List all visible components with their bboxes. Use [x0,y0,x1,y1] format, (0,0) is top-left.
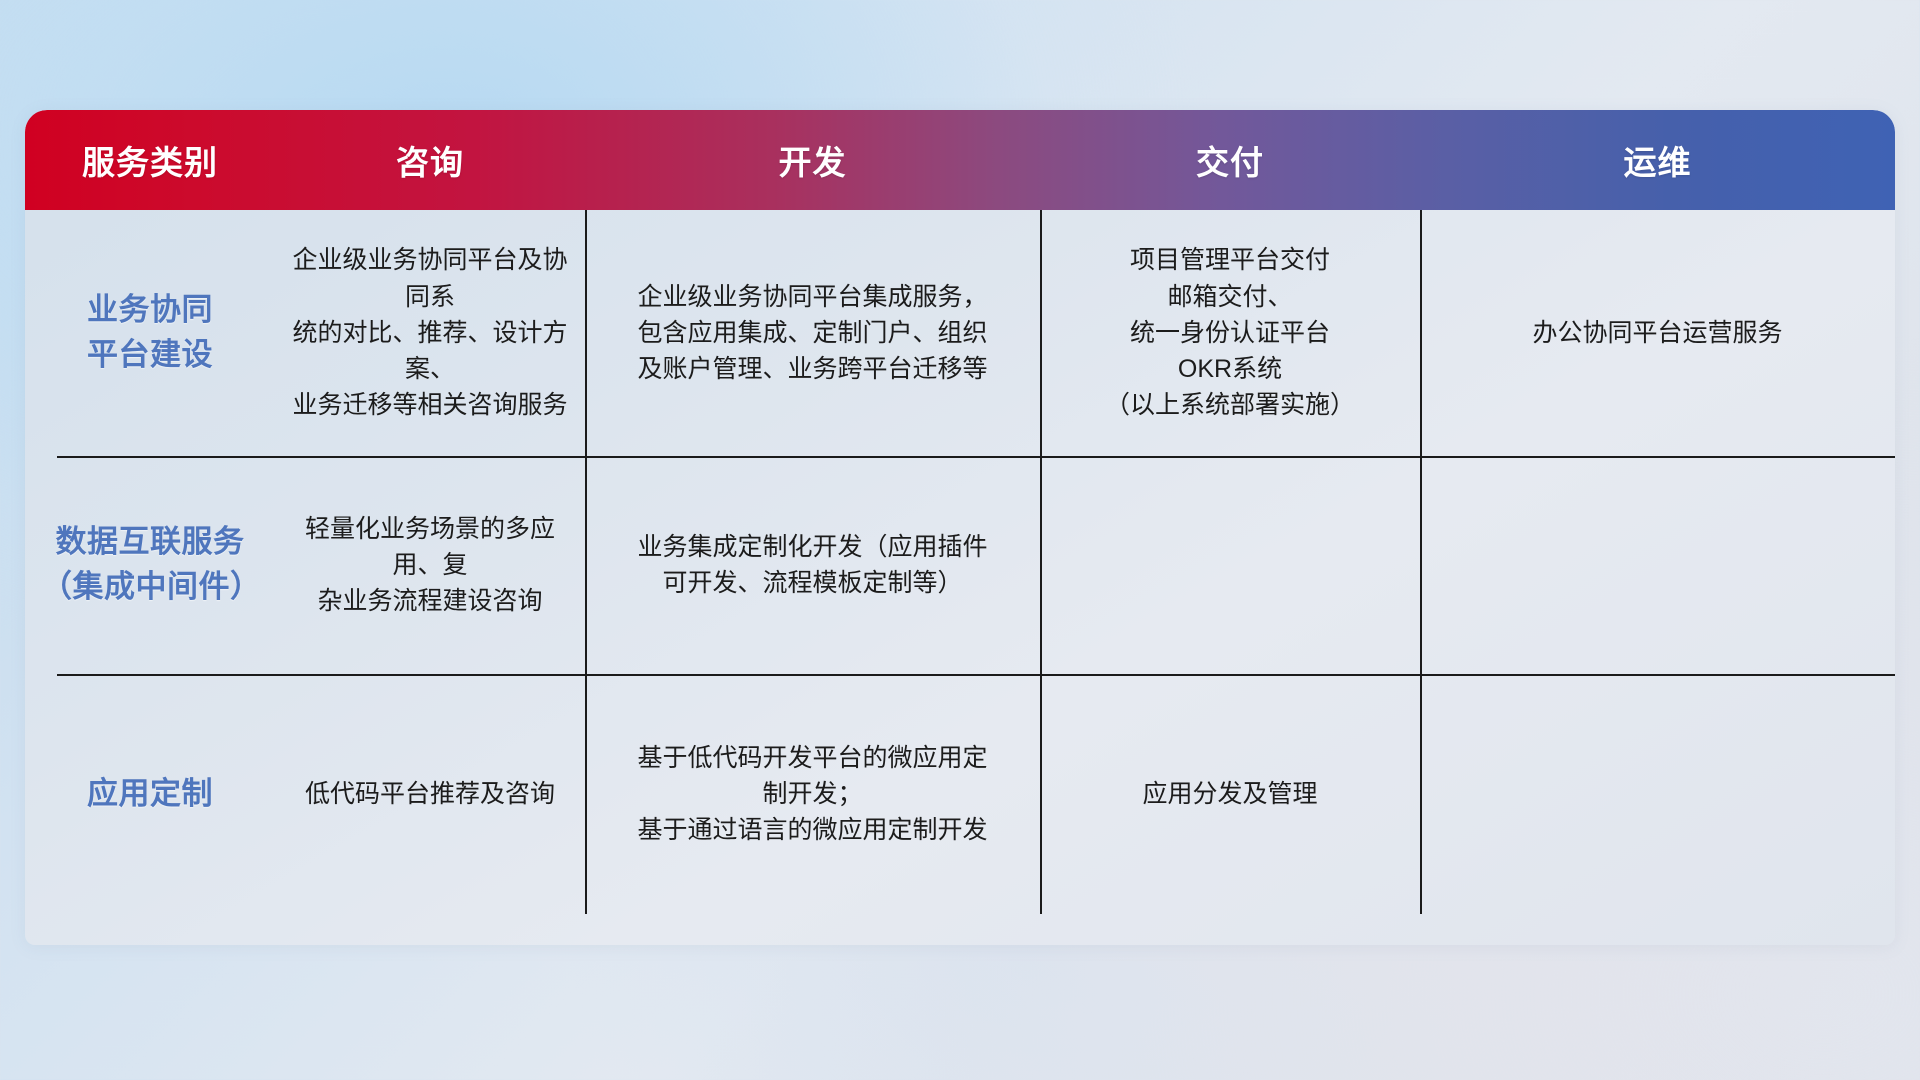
cell-development: 企业级业务协同平台集成服务， 包含应用集成、定制门户、组织 及账户管理、业务跨平… [585,210,1040,456]
category-label: 数据互联服务 （集成中间件） [41,520,259,610]
cell-text: 企业级业务协同平台及协同系 统的对比、推荐、设计方案、 业务迁移等相关咨询服务 [291,242,569,423]
cell-text: 基于低代码开发平台的微应用定 制开发； 基于通过语言的微应用定制开发 [637,740,987,849]
cell-text: 项目管理平台交付 邮箱交付、 统一身份认证平台 OKR系统 （以上系统部署实施） [1105,242,1355,423]
cell-text: 办公协同平台运营服务 [1532,315,1782,351]
cell-text: 企业级业务协同平台集成服务， 包含应用集成、定制门户、组织 及账户管理、业务跨平… [637,279,987,388]
column-header-consulting: 咨询 [275,110,585,210]
cell-consulting: 低代码平台推荐及咨询 [275,674,585,914]
cell-operations [1420,674,1895,914]
cell-operations: 办公协同平台运营服务 [1420,210,1895,456]
cell-development: 业务集成定制化开发（应用插件 可开发、流程模板定制等） [585,456,1040,674]
column-header-service-category: 服务类别 [25,110,275,210]
table-row: 数据互联服务 （集成中间件） 轻量化业务场景的多应用、复 杂业务流程建设咨询 业… [25,456,1895,674]
cell-delivery: 项目管理平台交付 邮箱交付、 统一身份认证平台 OKR系统 （以上系统部署实施） [1040,210,1420,456]
column-header-label: 咨询 [396,136,464,184]
column-header-development: 开发 [585,110,1040,210]
table-row: 业务协同 平台建设 企业级业务协同平台及协同系 统的对比、推荐、设计方案、 业务… [25,210,1895,456]
table-header-row: 服务类别 咨询 开发 交付 运维 [25,110,1895,210]
column-header-label: 运维 [1624,136,1692,184]
slide-root: 服务类别 咨询 开发 交付 运维 业务协同 平台建设 企业级业务 [0,0,1920,1080]
service-matrix-table: 服务类别 咨询 开发 交付 运维 业务协同 平台建设 企业级业务 [25,110,1895,945]
cell-category: 业务协同 平台建设 [25,210,275,456]
cell-category: 应用定制 [25,674,275,914]
table-body: 业务协同 平台建设 企业级业务协同平台及协同系 统的对比、推荐、设计方案、 业务… [25,210,1895,945]
cell-consulting: 企业级业务协同平台及协同系 统的对比、推荐、设计方案、 业务迁移等相关咨询服务 [275,210,585,456]
column-header-label: 开发 [779,136,847,184]
cell-text: 轻量化业务场景的多应用、复 杂业务流程建设咨询 [291,511,569,620]
cell-delivery: 应用分发及管理 [1040,674,1420,914]
column-header-label: 交付 [1196,136,1264,184]
cell-consulting: 轻量化业务场景的多应用、复 杂业务流程建设咨询 [275,456,585,674]
cell-category: 数据互联服务 （集成中间件） [25,456,275,674]
cell-text: 业务集成定制化开发（应用插件 可开发、流程模板定制等） [637,529,987,602]
column-header-delivery: 交付 [1040,110,1420,210]
table-row: 应用定制 低代码平台推荐及咨询 基于低代码开发平台的微应用定 制开发； 基于通过… [25,674,1895,914]
column-header-operations: 运维 [1420,110,1895,210]
cell-operations [1420,456,1895,674]
category-label: 业务协同 平台建设 [87,288,213,378]
cell-delivery [1040,456,1420,674]
category-label: 应用定制 [87,772,213,817]
column-header-label: 服务类别 [82,136,218,184]
cell-text: 应用分发及管理 [1142,776,1317,812]
cell-text: 低代码平台推荐及咨询 [305,776,555,812]
cell-development: 基于低代码开发平台的微应用定 制开发； 基于通过语言的微应用定制开发 [585,674,1040,914]
